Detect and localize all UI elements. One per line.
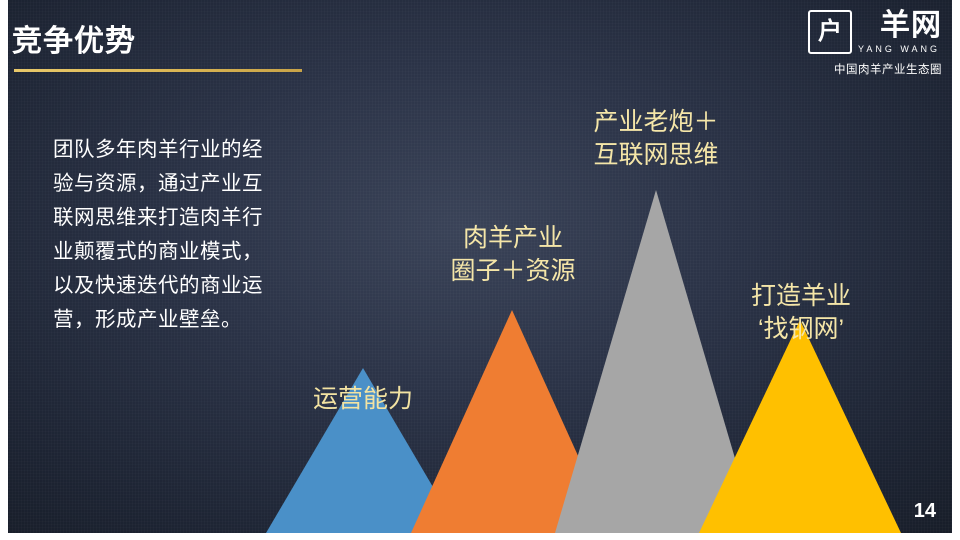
peak-blue-label-line1: 运营能力: [288, 383, 438, 416]
peak-blue-label: 运营能力: [288, 383, 438, 416]
slide-left-margin: [0, 0, 8, 540]
peak-yellow-label-line2: ‘找钢网’: [715, 313, 887, 346]
slide-right-margin: [952, 0, 960, 540]
page-number: 14: [914, 500, 936, 523]
slide-canvas: 竞争优势 户 羊网 YANG WANG 中国肉羊产业生态圈 团队多年肉羊行业的经…: [0, 0, 960, 540]
peak-yellow-shape: [699, 320, 901, 533]
peak-gray-label: 产业老炮＋ 互联网思维: [563, 106, 749, 172]
peak-yellow-label-line1: 打造羊业: [715, 280, 887, 313]
peak-gray-label-line2: 互联网思维: [563, 139, 749, 172]
peak-orange-label-line1: 肉羊产业: [427, 222, 599, 255]
peak-gray-label-line1: 产业老炮＋: [563, 106, 749, 139]
slide-bottom-margin: [0, 533, 960, 540]
peak-yellow-label: 打造羊业 ‘找钢网’: [715, 280, 887, 346]
peak-orange-label-line2: 圈子＋资源: [427, 255, 599, 288]
peak-orange-label: 肉羊产业 圈子＋资源: [427, 222, 599, 288]
